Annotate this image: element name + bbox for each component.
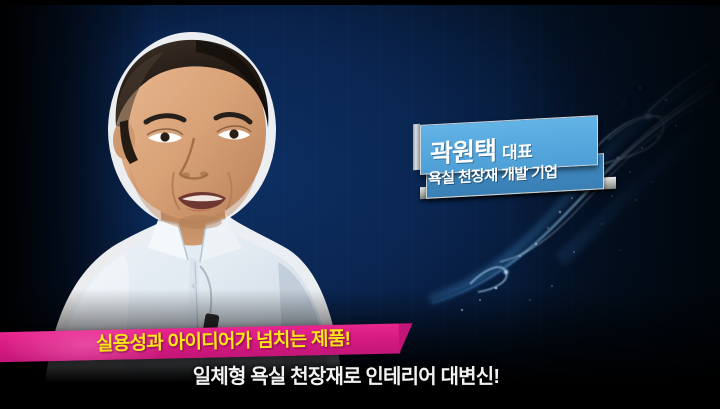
bottom-letterbox-bar [0, 405, 720, 409]
video-frame: 곽원택대표 욕실 천장재 개발 기업 실용성과 아이디어가 넘치는 제품! 일체… [0, 0, 720, 409]
subtitle-text: 일체형 욕실 천장재로 인테리어 대변신! [193, 366, 500, 388]
subtitle-caption: 일체형 욕실 천장재로 인테리어 대변신! [0, 360, 720, 389]
speaker-name-tag: 곽원택대표 욕실 천장재 개발 기업 [408, 118, 623, 218]
speaker-title: 대표 [502, 142, 532, 163]
banner-angled-tip [399, 323, 414, 353]
headline-text: 실용성과 아이디어가 넘치는 제품! [96, 325, 351, 361]
top-letterbox-bar [0, 0, 720, 5]
name-tag-left-edge [413, 124, 420, 170]
